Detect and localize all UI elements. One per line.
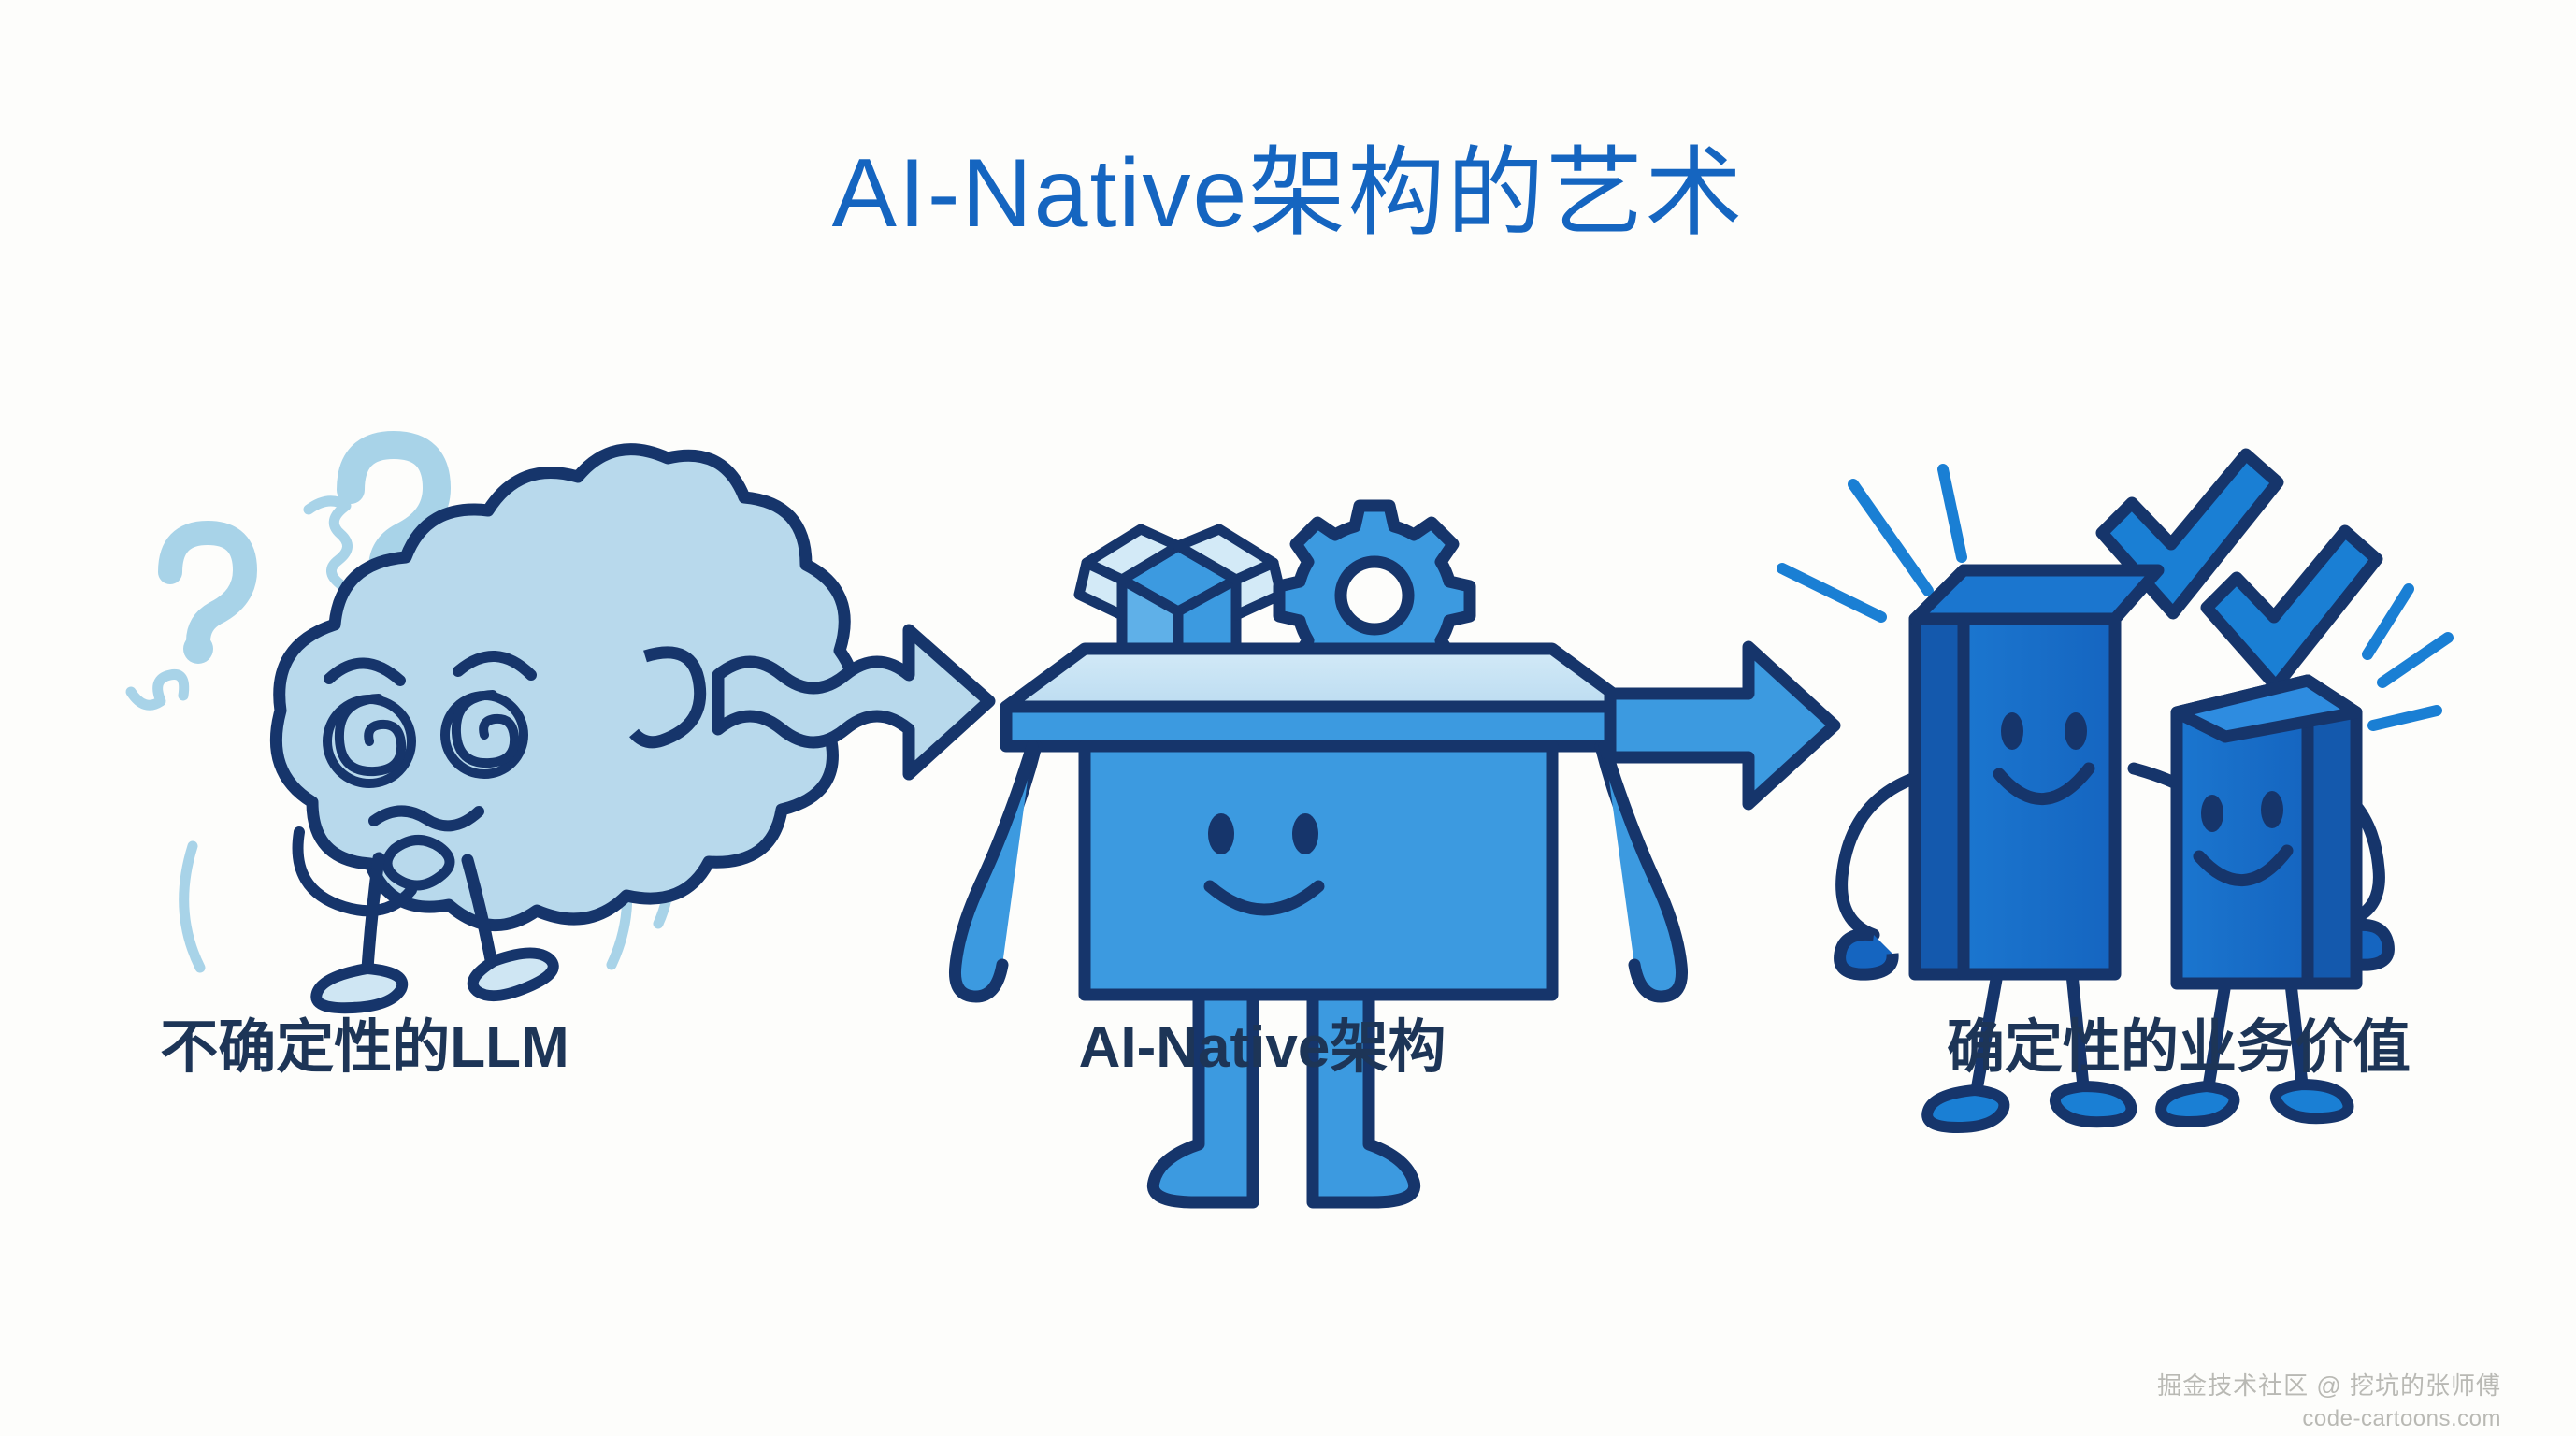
brain-ear [634,653,700,742]
table-top-surface [1006,649,1631,707]
question-mark-dot [183,634,213,664]
block-tall-arm-left [1842,778,1915,935]
stage-2-architecture-table [955,506,1681,1202]
block-short-foot-left [2161,1086,2234,1122]
block-tall-eye-left [2001,712,2023,750]
stage-label-ai-native-architecture: AI-Native架构 [944,1019,1580,1077]
block-short-eye-left [2201,795,2223,832]
watermark-site: code-cartoons.com [2302,1406,2501,1432]
table-arm-right [1605,746,1682,997]
illustration-canvas: AI-Native架构的艺术 [0,0,2576,1436]
table-arm-left [955,746,1032,997]
block-tall-foot-left [1927,1090,2004,1127]
squiggle-icon [309,501,348,584]
question-mark-icon [170,533,245,641]
table-eye-left [1208,813,1234,854]
block-tall-hand-left [1840,934,1893,974]
block-tall-eye-right [2065,712,2087,750]
watermark-community: 掘金技术社区 @ 挖坑的张师傅 [2157,1367,2501,1401]
arrow-straight-icon [1610,647,1835,804]
stage-label-uncertain-llm: 不确定性的LLM [56,1019,673,1077]
stage-label-deterministic-business-value: 确定性的业务价值 [1851,1019,2506,1077]
table-eye-right [1292,813,1318,854]
checkmark-icon [2207,531,2377,686]
brain-foot-left [316,969,402,1008]
block-tall-side [1915,570,1964,974]
block-tall-foot-right [2055,1086,2132,1122]
block-short-eye-right [2261,791,2283,828]
block-tall-top [1915,570,2158,619]
table-body-face [1085,746,1552,995]
scene-artwork [0,0,2576,1436]
stage-1-confused-brain [131,445,855,1008]
squiggle-icon [131,674,184,705]
block-short-foot-right [2276,1084,2349,1118]
